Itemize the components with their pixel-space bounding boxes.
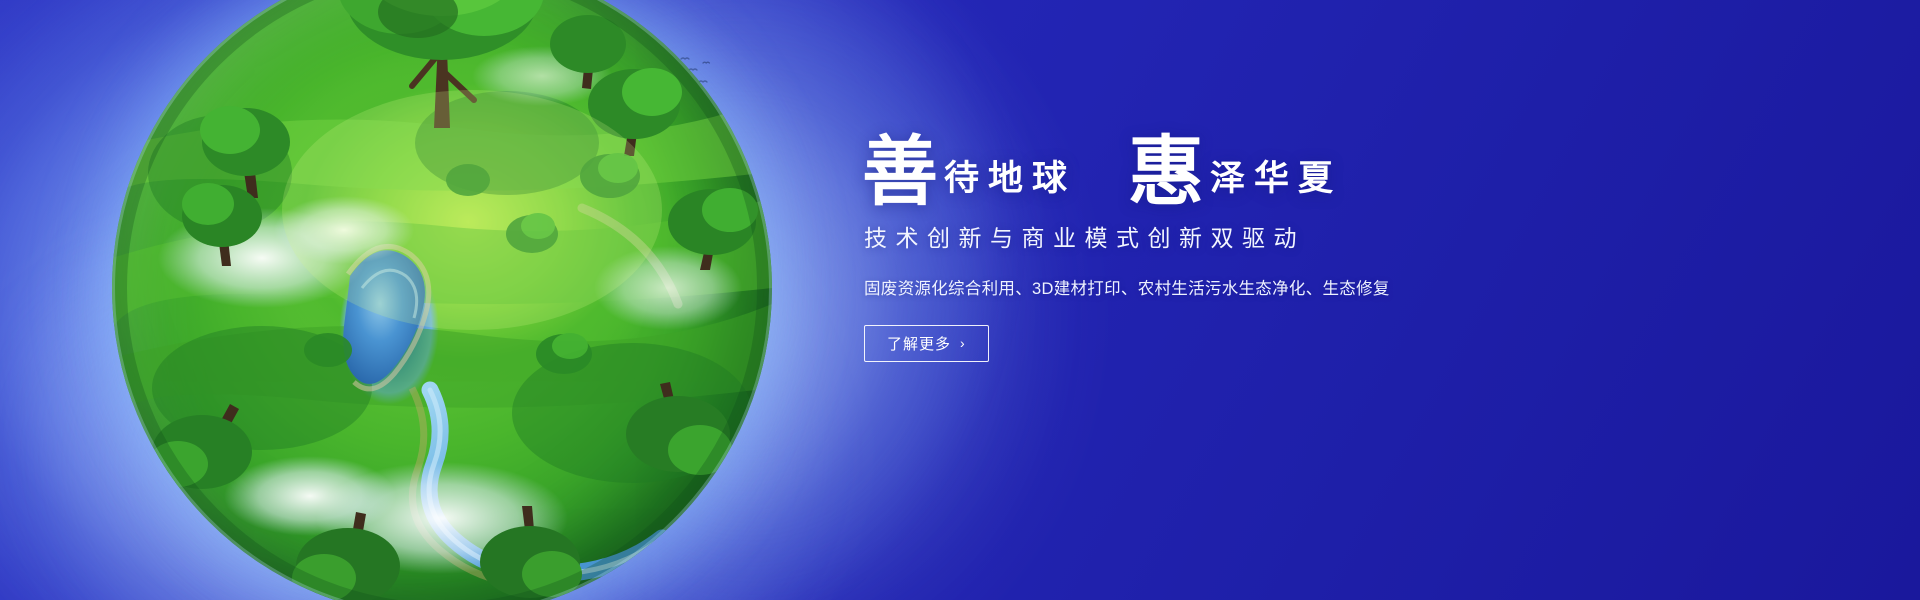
headline-rest-secondary: 泽华夏 bbox=[1204, 150, 1342, 201]
page-title: 善 待地球 惠 泽华夏 bbox=[862, 132, 1582, 205]
globe-image bbox=[112, 0, 772, 600]
headline-char-primary: 善 bbox=[862, 136, 938, 209]
hero-banner: 善 待地球 惠 泽华夏 技术创新与商业模式创新双驱动 固废资源化综合利用、3D建… bbox=[0, 0, 1920, 600]
tiny-planet-globe bbox=[112, 0, 772, 600]
subheadline: 技术创新与商业模式创新双驱动 bbox=[864, 219, 1582, 253]
learn-more-button[interactable]: 了解更多 › bbox=[864, 325, 989, 362]
headline-rest-primary: 待地球 bbox=[938, 150, 1076, 201]
hero-copy: 善 待地球 惠 泽华夏 技术创新与商业模式创新双驱动 固废资源化综合利用、3D建… bbox=[862, 132, 1582, 362]
headline-char-secondary: 惠 bbox=[1128, 136, 1204, 209]
chevron-right-icon: › bbox=[960, 336, 966, 350]
description-text: 固废资源化综合利用、3D建材打印、农村生活污水生态净化、生态修复 bbox=[864, 275, 1582, 299]
learn-more-label: 了解更多 bbox=[887, 333, 951, 354]
